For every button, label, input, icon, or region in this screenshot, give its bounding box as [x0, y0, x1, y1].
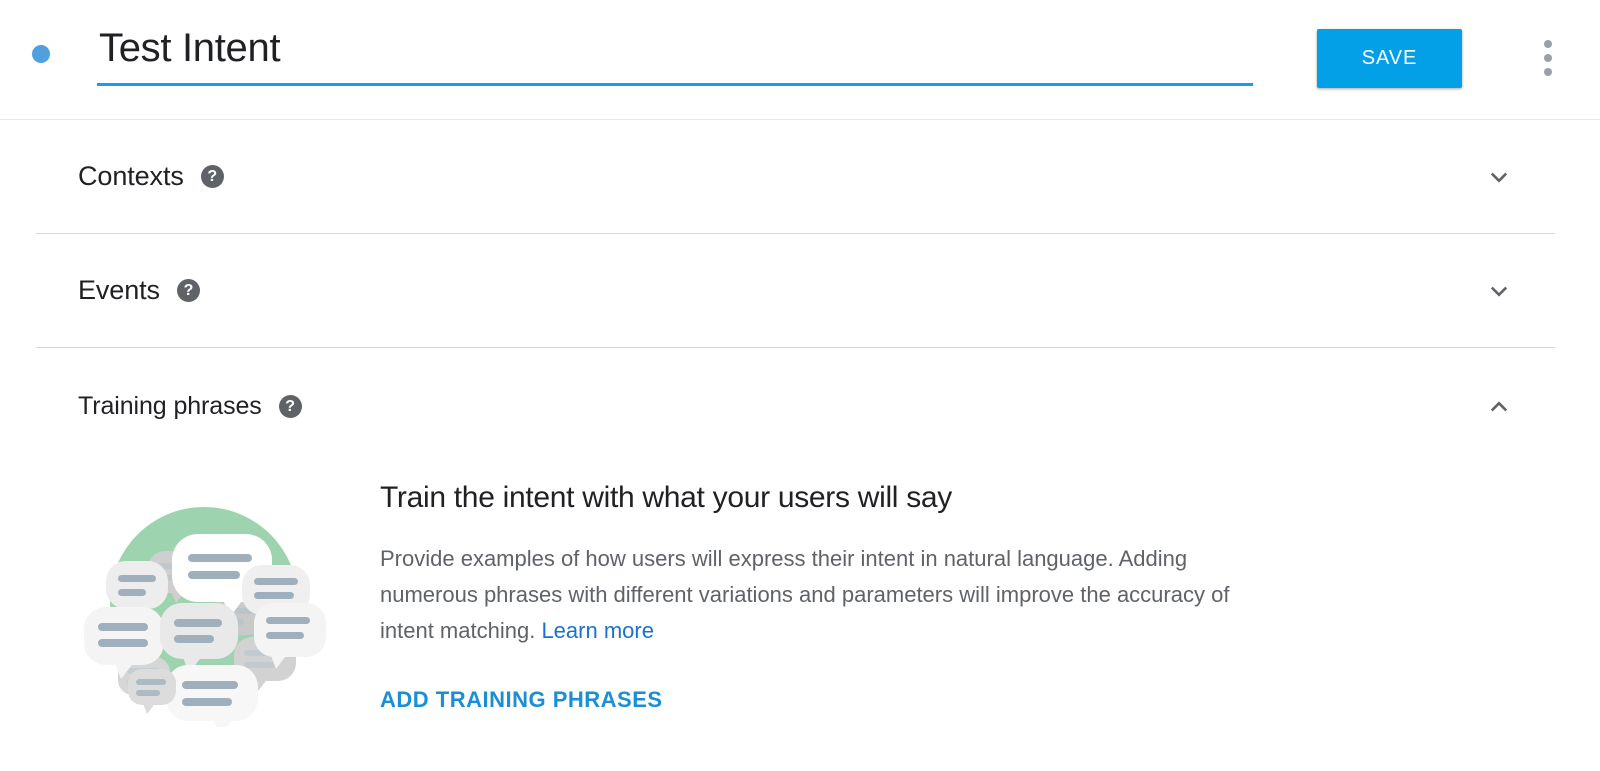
chevron-down-icon[interactable]	[1482, 160, 1516, 194]
section-title-events: Events	[78, 275, 160, 306]
chevron-down-icon[interactable]	[1482, 274, 1516, 308]
intent-header-bar: SAVE	[0, 0, 1600, 120]
intent-sections: Contexts ? Events ? Training phrases	[0, 120, 1600, 727]
section-contexts: Contexts ?	[0, 120, 1600, 234]
section-header-contexts[interactable]: Contexts ?	[0, 120, 1600, 233]
intent-name-input[interactable]	[97, 23, 1253, 86]
training-phrases-copy: Train the intent with what your users wi…	[380, 473, 1260, 713]
more-options-icon[interactable]	[1528, 36, 1568, 80]
training-phrases-empty-state: Train the intent with what your users wi…	[0, 465, 1600, 727]
empty-state-heading: Train the intent with what your users wi…	[380, 481, 1260, 515]
section-events: Events ?	[0, 234, 1600, 348]
section-header-training-phrases[interactable]: Training phrases ?	[0, 348, 1600, 465]
add-training-phrases-button[interactable]: ADD TRAINING PHRASES	[380, 687, 663, 713]
section-title-contexts: Contexts	[78, 161, 184, 192]
section-title-training-phrases: Training phrases	[78, 392, 262, 421]
intent-title-field-wrapper	[97, 23, 1253, 86]
save-button[interactable]: SAVE	[1317, 29, 1462, 88]
section-header-events[interactable]: Events ?	[0, 234, 1600, 347]
intent-status-dot	[32, 45, 50, 63]
help-icon[interactable]: ?	[177, 279, 200, 302]
speech-bubbles-illustration	[76, 479, 332, 727]
section-training-phrases: Training phrases ?	[0, 348, 1600, 727]
learn-more-link[interactable]: Learn more	[541, 618, 654, 643]
help-icon[interactable]: ?	[201, 165, 224, 188]
empty-state-description-text: Provide examples of how users will expre…	[380, 546, 1229, 643]
chevron-up-icon[interactable]	[1482, 390, 1516, 424]
menu-dot-3	[1544, 68, 1552, 76]
menu-dot-2	[1544, 54, 1552, 62]
menu-dot-1	[1544, 40, 1552, 48]
empty-state-description: Provide examples of how users will expre…	[380, 541, 1260, 649]
help-icon[interactable]: ?	[279, 395, 302, 418]
